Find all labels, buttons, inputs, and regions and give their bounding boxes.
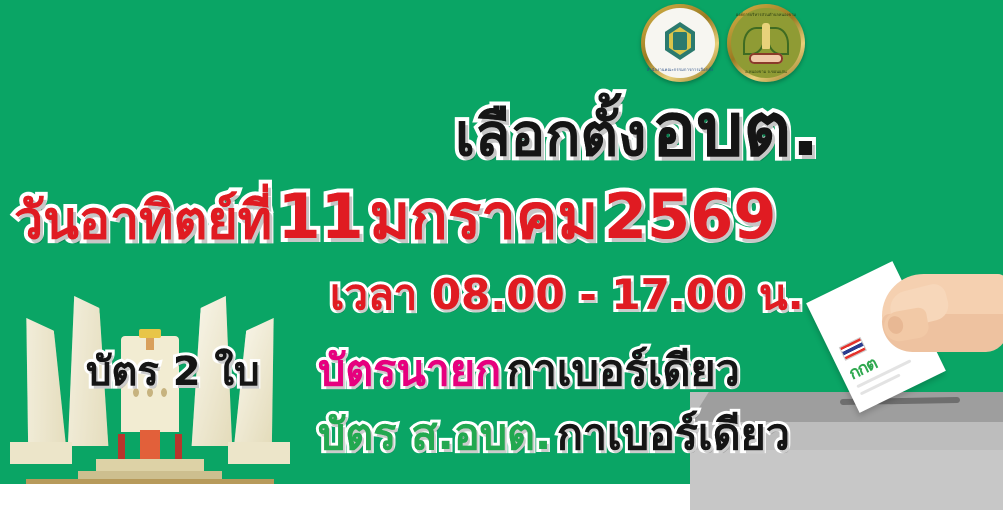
handshake-icon xyxy=(749,53,783,64)
headline: เลือกตั้ง เลือกตั้ง อบต. อบต. xyxy=(455,93,819,167)
emblem-garuda-seal-icon: สำนักงานคณะกรรมการการเลือกตั้ง xyxy=(641,4,719,82)
date-year: 2569 xyxy=(604,186,777,248)
date-year-stack: 2569 2569 xyxy=(604,186,777,248)
ballot-count-stack: บัตร 2 ใบ บัตร 2 ใบ xyxy=(86,352,259,392)
emblem-ring-text-top: องค์การบริหารส่วนตำบลหนองขาม xyxy=(727,11,805,18)
ballot-row-label: บัตร ส.อบต. xyxy=(318,414,551,457)
bottom-white-strip xyxy=(0,484,690,510)
monument-crown-stem xyxy=(146,336,154,350)
ballot-row-instruction: กาเบอร์เดียว xyxy=(507,350,740,393)
monument-plinth xyxy=(228,442,290,464)
date-day: 11 xyxy=(278,186,364,248)
date-day-stack: 11 11 xyxy=(278,186,364,248)
emblem-ring-text-bottom: อ.หนองขาม จ.ขอนแก่น xyxy=(727,68,805,75)
emblem-group: สำนักงานคณะกรรมการการเลือกตั้ง องค์การบร… xyxy=(641,4,816,82)
date-month-stack: มกราคม มกราคม xyxy=(369,186,598,248)
date-prefix-stack: วันอาทิตย์ที่ วันอาทิตย์ที่ xyxy=(14,195,272,247)
crest-hex-inner xyxy=(673,32,687,50)
monument-pillar xyxy=(118,434,125,460)
headline-prefix-stack: เลือกตั้ง เลือกตั้ง xyxy=(455,106,646,164)
time-text: เวลา 08.00 - 17.00 น. xyxy=(330,274,804,316)
time-line: เวลา 08.00 - 17.00 น. เวลา 08.00 - 17.00… xyxy=(330,274,804,316)
election-poster: สำนักงานคณะกรรมการการเลือกตั้ง องค์การบร… xyxy=(0,0,1003,510)
monument-door xyxy=(140,430,160,460)
emblem-ring-text: สำนักงานคณะกรรมการการเลือกตั้ง xyxy=(641,66,719,73)
date-month: มกราคม xyxy=(369,186,598,248)
headline-prefix: เลือกตั้ง xyxy=(455,106,646,164)
headline-main-stack: อบต. อบต. xyxy=(652,93,820,167)
date-prefix: วันอาทิตย์ที่ xyxy=(14,195,272,247)
headline-main: อบต. xyxy=(652,93,820,167)
monument-crown-icon xyxy=(139,329,161,338)
date-line: วันอาทิตย์ที่ วันอาทิตย์ที่ 11 11 มกราคม… xyxy=(14,186,776,248)
ballot-row-instruction-stack: กาเบอร์เดียว กาเบอร์เดียว xyxy=(557,414,790,457)
ballot-row-label: บัตรนายก xyxy=(318,350,501,393)
crest-shape xyxy=(659,20,701,66)
monument-pillar xyxy=(175,434,182,460)
laurel-right-icon xyxy=(767,27,789,55)
monument-wing xyxy=(8,318,72,446)
ballot-row-label-stack: บัตรนายก บัตรนายก xyxy=(318,350,501,393)
ballot-count-line: บัตร 2 ใบ บัตร 2 ใบ xyxy=(86,352,259,392)
time-text-stack: เวลา 08.00 - 17.00 น. เวลา 08.00 - 17.00… xyxy=(330,274,804,316)
torch-icon xyxy=(762,23,770,49)
emblem-local-government-seal-icon: องค์การบริหารส่วนตำบลหนองขาม อ.หนองขาม จ… xyxy=(727,4,805,82)
hand-casting-ballot-illustration xyxy=(872,258,1003,374)
ballot-row-council: บัตร ส.อบต. บัตร ส.อบต. กาเบอร์เดียว กาเ… xyxy=(318,414,790,457)
crest-shape xyxy=(741,21,791,65)
ballot-row-instruction: กาเบอร์เดียว xyxy=(557,414,790,457)
ballot-row-instruction-stack: กาเบอร์เดียว กาเบอร์เดียว xyxy=(507,350,740,393)
ballot-count-text: บัตร 2 ใบ xyxy=(86,352,259,392)
ballot-row-label-stack: บัตร ส.อบต. บัตร ส.อบต. xyxy=(318,414,551,457)
monument-plinth xyxy=(10,442,72,464)
ballot-row-mayor: บัตรนายก บัตรนายก กาเบอร์เดียว กาเบอร์เด… xyxy=(318,350,740,393)
